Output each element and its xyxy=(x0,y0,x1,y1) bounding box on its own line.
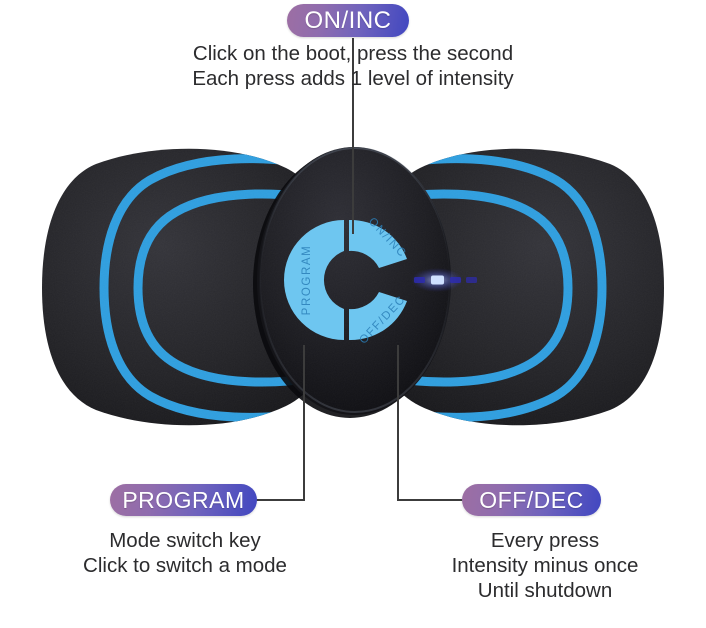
caption-program-line-1: Mode switch key xyxy=(30,528,340,553)
caption-off-dec: Every press Intensity minus once Until s… xyxy=(400,528,690,603)
caption-program: Mode switch key Click to switch a mode xyxy=(30,528,340,578)
leader-line-program-horizontal xyxy=(256,499,305,501)
caption-on-inc: Click on the boot, press the second Each… xyxy=(0,41,706,91)
badge-on-inc: ON/INC xyxy=(287,4,409,37)
leader-line-program-vertical xyxy=(303,345,305,501)
leader-line-off-dec-horizontal xyxy=(397,499,463,501)
caption-off-dec-line-3: Until shutdown xyxy=(400,578,690,603)
caption-off-dec-line-2: Intensity minus once xyxy=(400,553,690,578)
leader-line-off-dec-vertical xyxy=(397,345,399,501)
badge-off-dec: OFF/DEC xyxy=(462,484,601,516)
caption-on-inc-line-1: Click on the boot, press the second xyxy=(0,41,706,66)
caption-on-inc-line-2: Each press adds 1 level of intensity xyxy=(0,66,706,91)
ring-label-program: PROGRAM xyxy=(301,245,313,316)
infographic-page: ON/INC OFF/DEC PROGRAM ON/INC Click on t… xyxy=(0,0,706,628)
caption-off-dec-line-1: Every press xyxy=(400,528,690,553)
badge-program: PROGRAM xyxy=(110,484,257,516)
caption-program-line-2: Click to switch a mode xyxy=(30,553,340,578)
